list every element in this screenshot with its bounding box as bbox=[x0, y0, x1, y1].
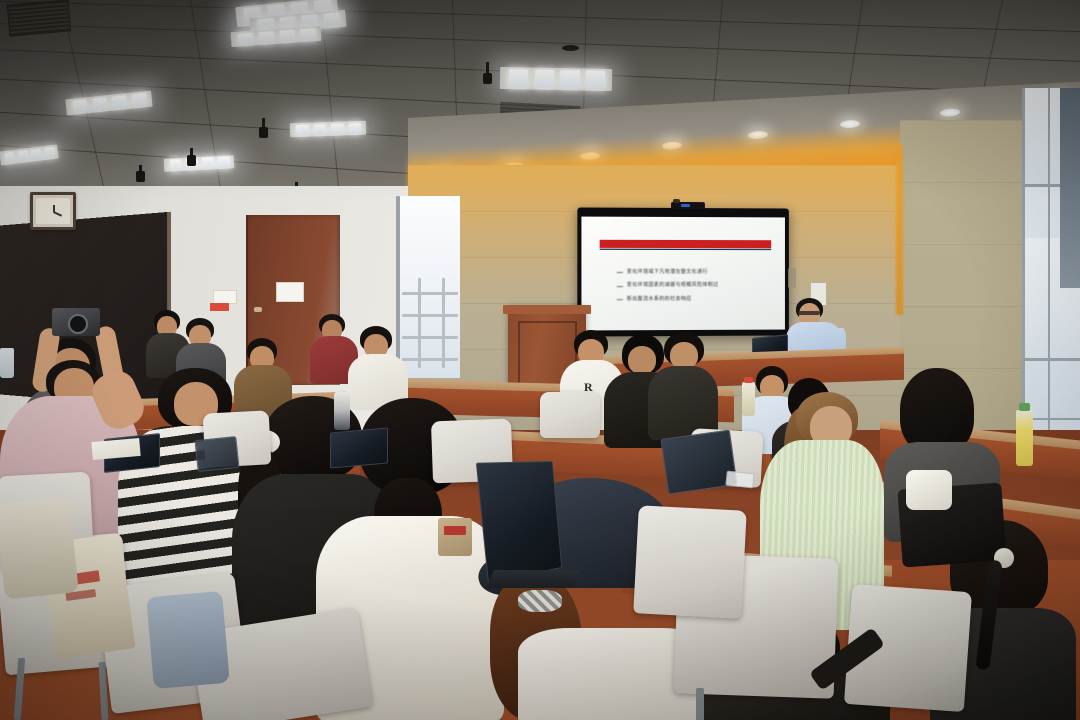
window-railing bbox=[402, 314, 458, 317]
denim-garment bbox=[146, 591, 230, 689]
laptop[interactable] bbox=[480, 462, 576, 590]
chair[interactable] bbox=[636, 508, 744, 624]
ceiling-light-fixture bbox=[290, 121, 366, 138]
ceiling-light-fixture bbox=[0, 145, 59, 166]
slide-screen: 变化环境域下凡地潜在整文化通行 变化环境因素的减缓与规模风险体制过 新出整流水系… bbox=[581, 217, 785, 331]
ceiling-microphone bbox=[190, 148, 193, 159]
jacket-patch bbox=[438, 518, 472, 556]
water-bottle[interactable] bbox=[742, 382, 755, 416]
thermos[interactable] bbox=[334, 392, 350, 430]
slide-bullet-2: 变化环境因素的减缓与规模风险体制过 bbox=[627, 281, 719, 288]
red-wall-sign bbox=[210, 303, 229, 311]
lecture-hall-photo: 变化环境域下凡地潜在整文化通行 变化环境因素的减缓与规模风险体制过 新出整流水系… bbox=[0, 0, 1080, 720]
ceiling-light-fixture bbox=[231, 26, 322, 47]
water-bottle-left[interactable] bbox=[0, 348, 14, 378]
wall-speaker bbox=[788, 268, 796, 288]
window-railing bbox=[442, 278, 445, 368]
white-pouch[interactable] bbox=[906, 470, 952, 510]
phone[interactable] bbox=[725, 471, 754, 489]
ceiling-light-fixture bbox=[500, 67, 612, 91]
presentation-display[interactable]: 变化环境域下凡地潜在整文化通行 变化环境因素的减缓与规模风险体制过 新出整流水系… bbox=[577, 207, 788, 336]
wall-notice bbox=[213, 290, 237, 304]
ceiling-smoke-detector bbox=[562, 45, 579, 51]
audience-member-grey-top bbox=[648, 332, 720, 436]
window-railing bbox=[402, 358, 458, 361]
jacket-on-chair bbox=[0, 496, 79, 599]
right-window-frame bbox=[1060, 88, 1080, 288]
laptop-back-row[interactable] bbox=[330, 430, 390, 472]
ceiling-microphone bbox=[486, 62, 489, 77]
window-railing bbox=[418, 278, 421, 368]
audience-member-white-shirt bbox=[348, 326, 410, 406]
ceiling-light-fixture bbox=[164, 155, 235, 172]
ceiling-light-fixture bbox=[65, 91, 152, 116]
door-notice bbox=[276, 282, 304, 302]
window-railing bbox=[402, 336, 458, 339]
eyeglasses-icon bbox=[798, 311, 820, 315]
chair[interactable] bbox=[540, 392, 600, 440]
slide-accent-bar bbox=[600, 239, 771, 248]
door-handle[interactable] bbox=[254, 307, 262, 312]
conference-camera-icon bbox=[671, 202, 705, 209]
hair-tie bbox=[518, 590, 562, 612]
amber-light-strip bbox=[896, 145, 903, 315]
slide-bullet-3: 新出整流水系的的社会响应 bbox=[627, 295, 692, 302]
ceiling-microphone bbox=[262, 118, 265, 131]
slide-bullet-1: 变化环境域下凡地潜在整文化通行 bbox=[627, 268, 708, 275]
ceiling-microphone bbox=[139, 165, 142, 175]
tablet[interactable] bbox=[194, 436, 239, 472]
downlight-icon bbox=[940, 108, 960, 117]
window-railing bbox=[402, 292, 458, 295]
water-bottle[interactable] bbox=[1016, 410, 1033, 466]
ceiling-vent bbox=[7, 0, 72, 37]
wall-clock bbox=[30, 192, 76, 230]
